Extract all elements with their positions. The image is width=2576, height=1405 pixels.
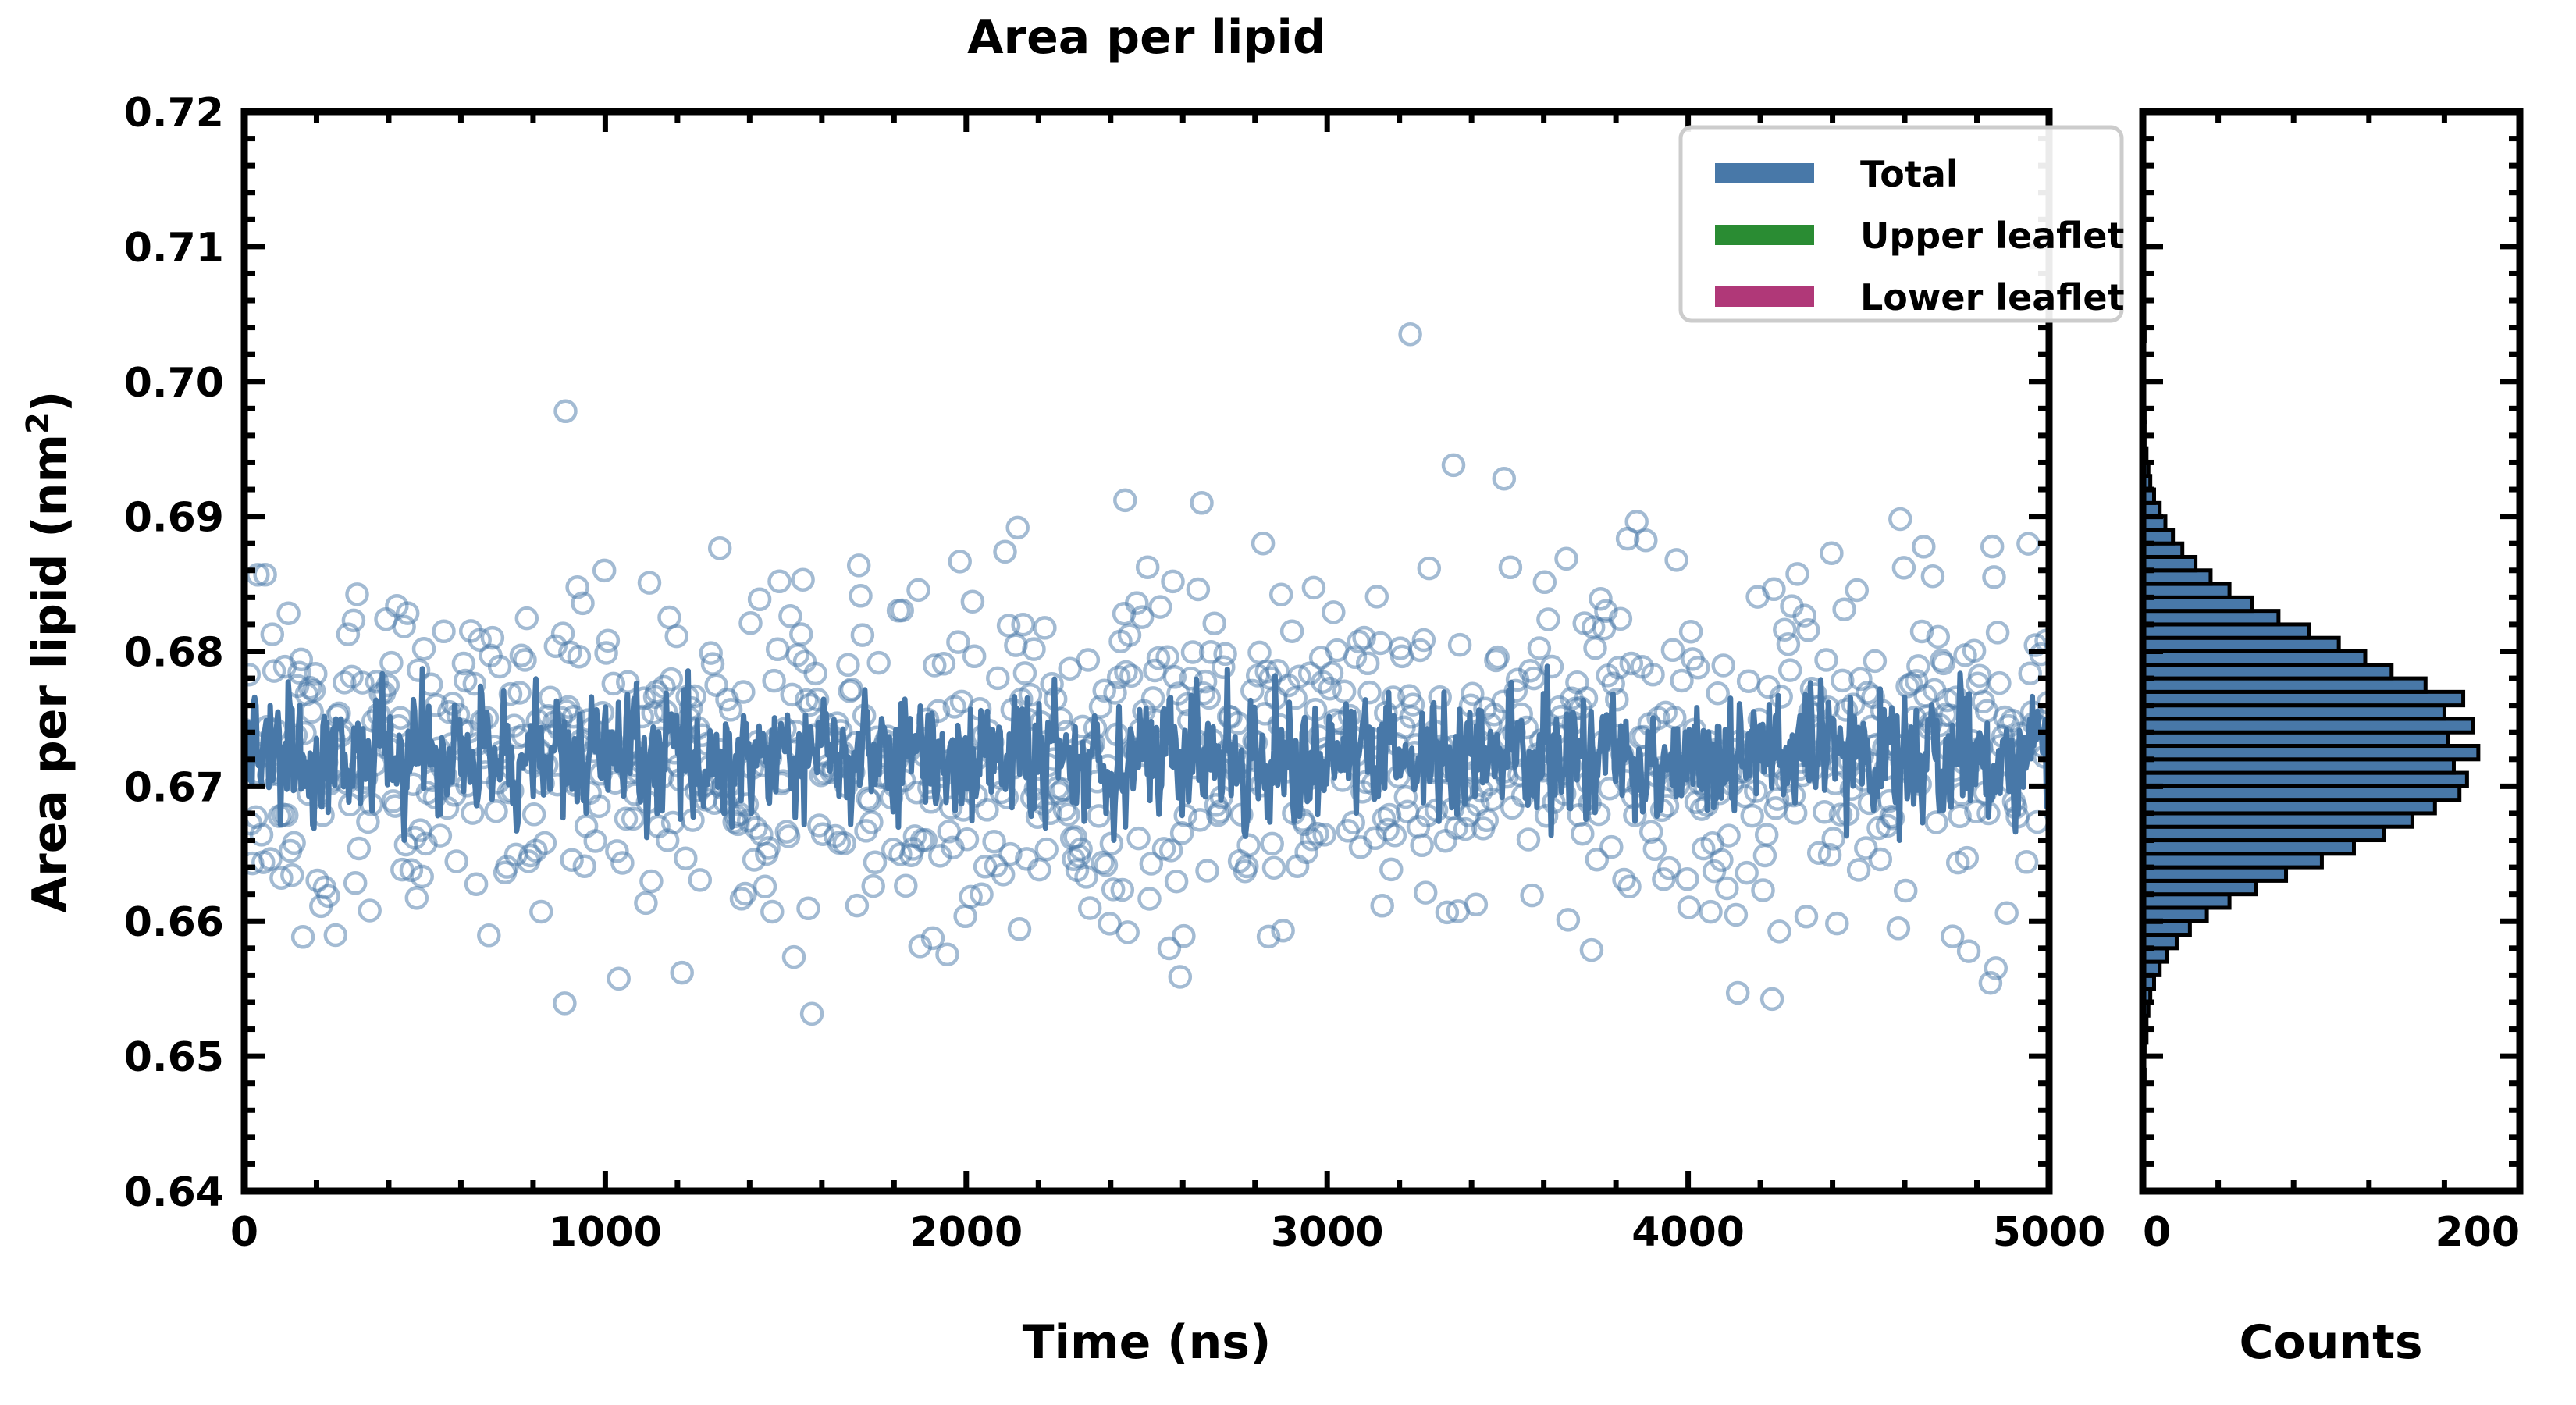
histogram-bar bbox=[2143, 665, 2392, 678]
x-tick-label: 0 bbox=[230, 1209, 258, 1256]
legend-swatch bbox=[1715, 225, 1814, 245]
legend[interactable]: TotalUpper leafletLower leaflet bbox=[1681, 127, 2125, 321]
histogram-bar bbox=[2143, 895, 2229, 908]
figure-canvas: Area per lipid 0100020 bbox=[0, 0, 2576, 1405]
main-y-tick-labels: 0.640.650.660.670.680.690.700.710.72 bbox=[124, 90, 224, 1216]
histogram-x-tick-label: 200 bbox=[2435, 1209, 2520, 1256]
histogram-bar bbox=[2143, 584, 2229, 597]
y-tick-label: 0.67 bbox=[124, 764, 224, 811]
legend-label: Upper leaflet bbox=[1860, 215, 2124, 257]
histogram-bar bbox=[2143, 611, 2279, 624]
legend-swatch bbox=[1715, 163, 1814, 183]
y-tick-label: 0.64 bbox=[124, 1169, 224, 1216]
y-tick-label: 0.71 bbox=[124, 225, 224, 272]
legend-label: Lower leaflet bbox=[1860, 276, 2125, 318]
histogram-bar bbox=[2143, 786, 2460, 799]
histogram-bar bbox=[2143, 880, 2256, 894]
legend-swatch bbox=[1715, 286, 1814, 307]
y-tick-label: 0.66 bbox=[124, 899, 224, 946]
area-per-lipid-figure: Area per lipid 0100020 bbox=[0, 0, 2576, 1405]
histogram-bar bbox=[2143, 706, 2444, 719]
y-tick-label: 0.69 bbox=[124, 495, 224, 542]
histogram-bar bbox=[2143, 827, 2384, 840]
y-tick-label: 0.68 bbox=[124, 630, 224, 677]
histogram-bar bbox=[2143, 800, 2435, 813]
histogram-axes: 0200 Counts bbox=[2143, 112, 2520, 1370]
histogram-bar bbox=[2143, 867, 2286, 880]
x-tick-label: 3000 bbox=[1271, 1209, 1384, 1256]
y-tick-label: 0.65 bbox=[124, 1034, 224, 1081]
histogram-bar bbox=[2143, 692, 2464, 705]
y-axis-label-tail: ) bbox=[23, 391, 77, 412]
histogram-bar bbox=[2143, 854, 2322, 867]
x-axis-label: Time (ns) bbox=[1023, 1315, 1272, 1370]
histogram-bar bbox=[2143, 719, 2473, 732]
histogram-bar bbox=[2143, 841, 2354, 854]
y-tick-label: 0.72 bbox=[124, 90, 224, 137]
x-tick-label: 1000 bbox=[549, 1209, 662, 1256]
y-axis-label: Area per lipid (nm2) bbox=[20, 391, 77, 913]
histogram-bar bbox=[2143, 678, 2425, 692]
histogram-bar bbox=[2143, 759, 2453, 773]
histogram-x-axis-label: Counts bbox=[2239, 1315, 2422, 1370]
histogram-bar bbox=[2143, 624, 2309, 638]
histogram-bar bbox=[2143, 773, 2467, 786]
histogram-bar bbox=[2143, 732, 2448, 745]
legend-label: Total bbox=[1860, 153, 1959, 195]
x-tick-label: 5000 bbox=[1993, 1209, 2106, 1256]
histogram-bar bbox=[2143, 813, 2412, 827]
y-tick-label: 0.70 bbox=[124, 360, 224, 407]
y-axis-label-base: Area per lipid (nm bbox=[23, 434, 77, 912]
histogram-bar bbox=[2143, 638, 2339, 651]
y-axis-label-superscript: 2 bbox=[20, 412, 56, 434]
histogram-bar bbox=[2143, 652, 2365, 665]
x-tick-label: 4000 bbox=[1631, 1209, 1745, 1256]
x-tick-label: 2000 bbox=[909, 1209, 1023, 1256]
histogram-x-tick-label: 0 bbox=[2143, 1209, 2171, 1256]
histogram-bar bbox=[2143, 746, 2478, 759]
histogram-bar bbox=[2143, 597, 2252, 610]
page-title: Area per lipid bbox=[967, 10, 1326, 65]
